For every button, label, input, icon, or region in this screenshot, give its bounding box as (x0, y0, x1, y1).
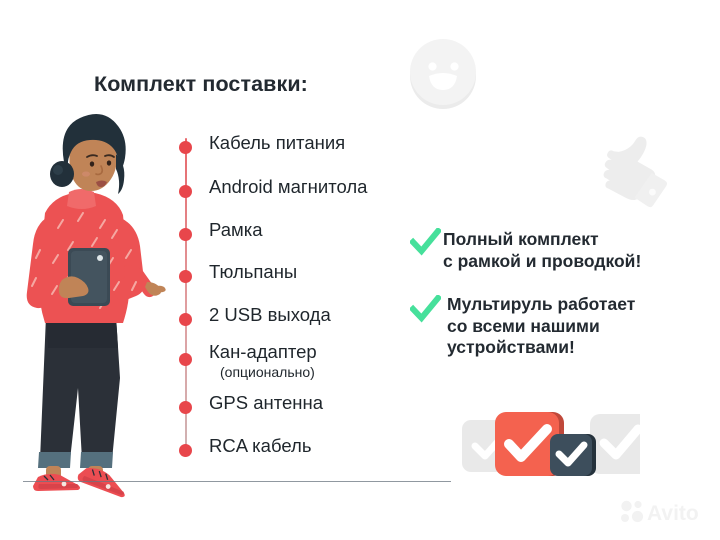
list-item-label: GPS антенна (209, 393, 323, 412)
product-banner: Комплект поставки: Кабель питанияAndroid… (0, 0, 720, 540)
benefit-text: Полный комплект с рамкой и проводкой! (443, 229, 641, 272)
avito-wordmark: Avito (647, 502, 699, 525)
green-check-icon (410, 295, 441, 326)
list-item-label: RCA кабель (209, 436, 311, 455)
avito-logo-icon: Avito (618, 498, 714, 526)
list-item-label: 2 USB выхода (209, 305, 331, 324)
smiley-face-icon (404, 35, 482, 113)
page-title: Комплект поставки: (94, 72, 308, 97)
list-item-label: Android магнитола (209, 177, 367, 196)
list-item-label: Рамка (209, 220, 263, 239)
checkbox-cluster-icon (460, 408, 640, 488)
ground-line (23, 481, 451, 482)
woman-pointing-illustration (8, 108, 188, 498)
green-check-icon (410, 228, 441, 259)
list-item-label: Кабель питания (209, 133, 345, 152)
benefit-text: Мультируль работает со всеми нашими устр… (447, 294, 635, 359)
thumbs-up-icon (577, 113, 681, 217)
list-item-label: Тюльпаны (209, 262, 297, 281)
supply-list: Кабель питанияAndroid магнитолаРамкаТюль… (176, 128, 426, 468)
list-item-sublabel: (опционально) (220, 365, 315, 380)
list-item-label: Кан-адаптер (209, 342, 317, 361)
